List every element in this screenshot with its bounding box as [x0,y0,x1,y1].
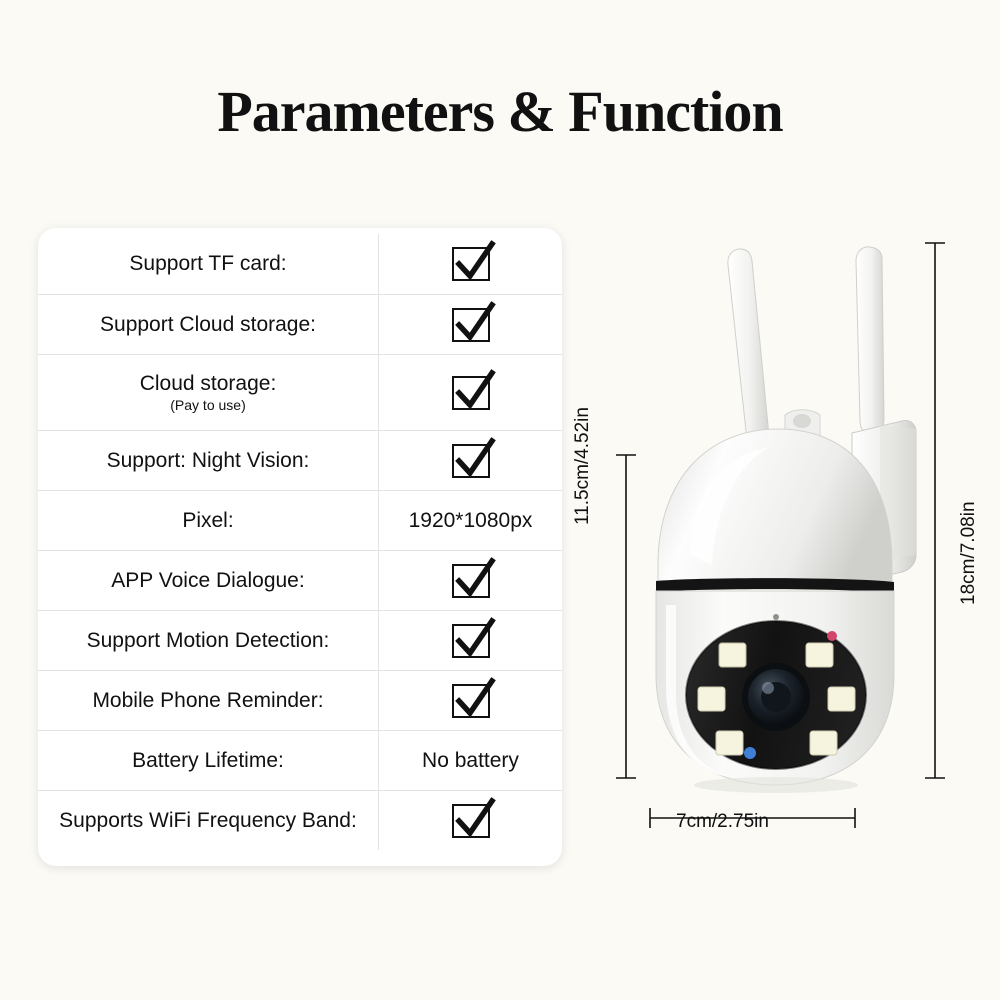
spec-row: Mobile Phone Reminder: [38,670,562,730]
spec-value [378,551,562,610]
spec-label-text: Supports WiFi Frequency Band: [59,809,357,833]
spec-label: Battery Lifetime: [38,731,378,790]
checkmark-icon [452,444,490,478]
spec-value [378,791,562,850]
camera-lens [742,663,810,731]
checkmark-icon [452,804,490,838]
checkmark-icon [452,376,490,410]
checkmark-icon [452,564,490,598]
spec-label-text: Mobile Phone Reminder: [92,689,323,713]
spec-label: Support Cloud storage: [38,295,378,354]
spec-value [378,431,562,490]
spec-label: APP Voice Dialogue: [38,551,378,610]
spec-label-text: Support TF card: [129,252,286,276]
spec-row: Cloud storage:(Pay to use) [38,354,562,430]
checkmark-icon [452,624,490,658]
spec-value [378,234,562,294]
spec-label: Support TF card: [38,234,378,294]
spec-label-text: Support Motion Detection: [87,629,330,653]
spec-label: Cloud storage:(Pay to use) [38,355,378,430]
spec-label: Pixel: [38,491,378,550]
spec-value-text: 1920*1080px [409,509,533,533]
spec-label-subtext: (Pay to use) [170,397,245,413]
checkmark-icon [452,684,490,718]
spec-value: No battery [378,731,562,790]
page-title: Parameters & Function [0,78,1000,145]
status-led [744,747,756,759]
spec-value [378,355,562,430]
spec-value-text: No battery [422,749,519,773]
dimension-right [925,243,945,778]
dimension-left [616,455,636,778]
microphone-hole [773,614,779,620]
spec-label-text: Support Cloud storage: [100,313,316,337]
dimension-label-height-total: 18cm/7.08in [958,501,980,605]
spec-label: Supports WiFi Frequency Band: [38,791,378,850]
checkmark-icon [452,308,490,342]
spec-row: Support Cloud storage: [38,294,562,354]
spec-row: Pixel:1920*1080px [38,490,562,550]
antenna-right [856,247,884,434]
spec-value: 1920*1080px [378,491,562,550]
specification-table: Support TF card:Support Cloud storage:Cl… [38,228,562,866]
spec-row: Support TF card: [38,234,562,294]
dimension-label-height-body: 11.5cm/4.52in [572,407,594,525]
spec-label-text: Cloud storage: [140,372,277,396]
antenna-left [728,249,768,442]
checkmark-icon [452,247,490,281]
spec-label-text: APP Voice Dialogue: [111,569,304,593]
spec-label: Support Motion Detection: [38,611,378,670]
spec-value [378,671,562,730]
spec-label: Mobile Phone Reminder: [38,671,378,730]
spec-label-text: Pixel: [182,509,233,533]
spec-row: Battery Lifetime:No battery [38,730,562,790]
spec-value [378,295,562,354]
spec-label-text: Battery Lifetime: [132,749,284,773]
ir-led [827,631,837,641]
spec-row: Supports WiFi Frequency Band: [38,790,562,850]
camera-illustration [580,225,980,865]
product-image: 11.5cm/4.52in 18cm/7.08in 7cm/2.75in [580,225,980,865]
ground-shadow [694,777,858,793]
spec-value [378,611,562,670]
spec-row: Support Motion Detection: [38,610,562,670]
dimension-label-width: 7cm/2.75in [676,811,769,833]
spec-label: Support: Night Vision: [38,431,378,490]
spec-row: APP Voice Dialogue: [38,550,562,610]
camera-faceplate [686,621,866,769]
spec-row: Support: Night Vision: [38,430,562,490]
spec-label-text: Support: Night Vision: [107,449,310,473]
